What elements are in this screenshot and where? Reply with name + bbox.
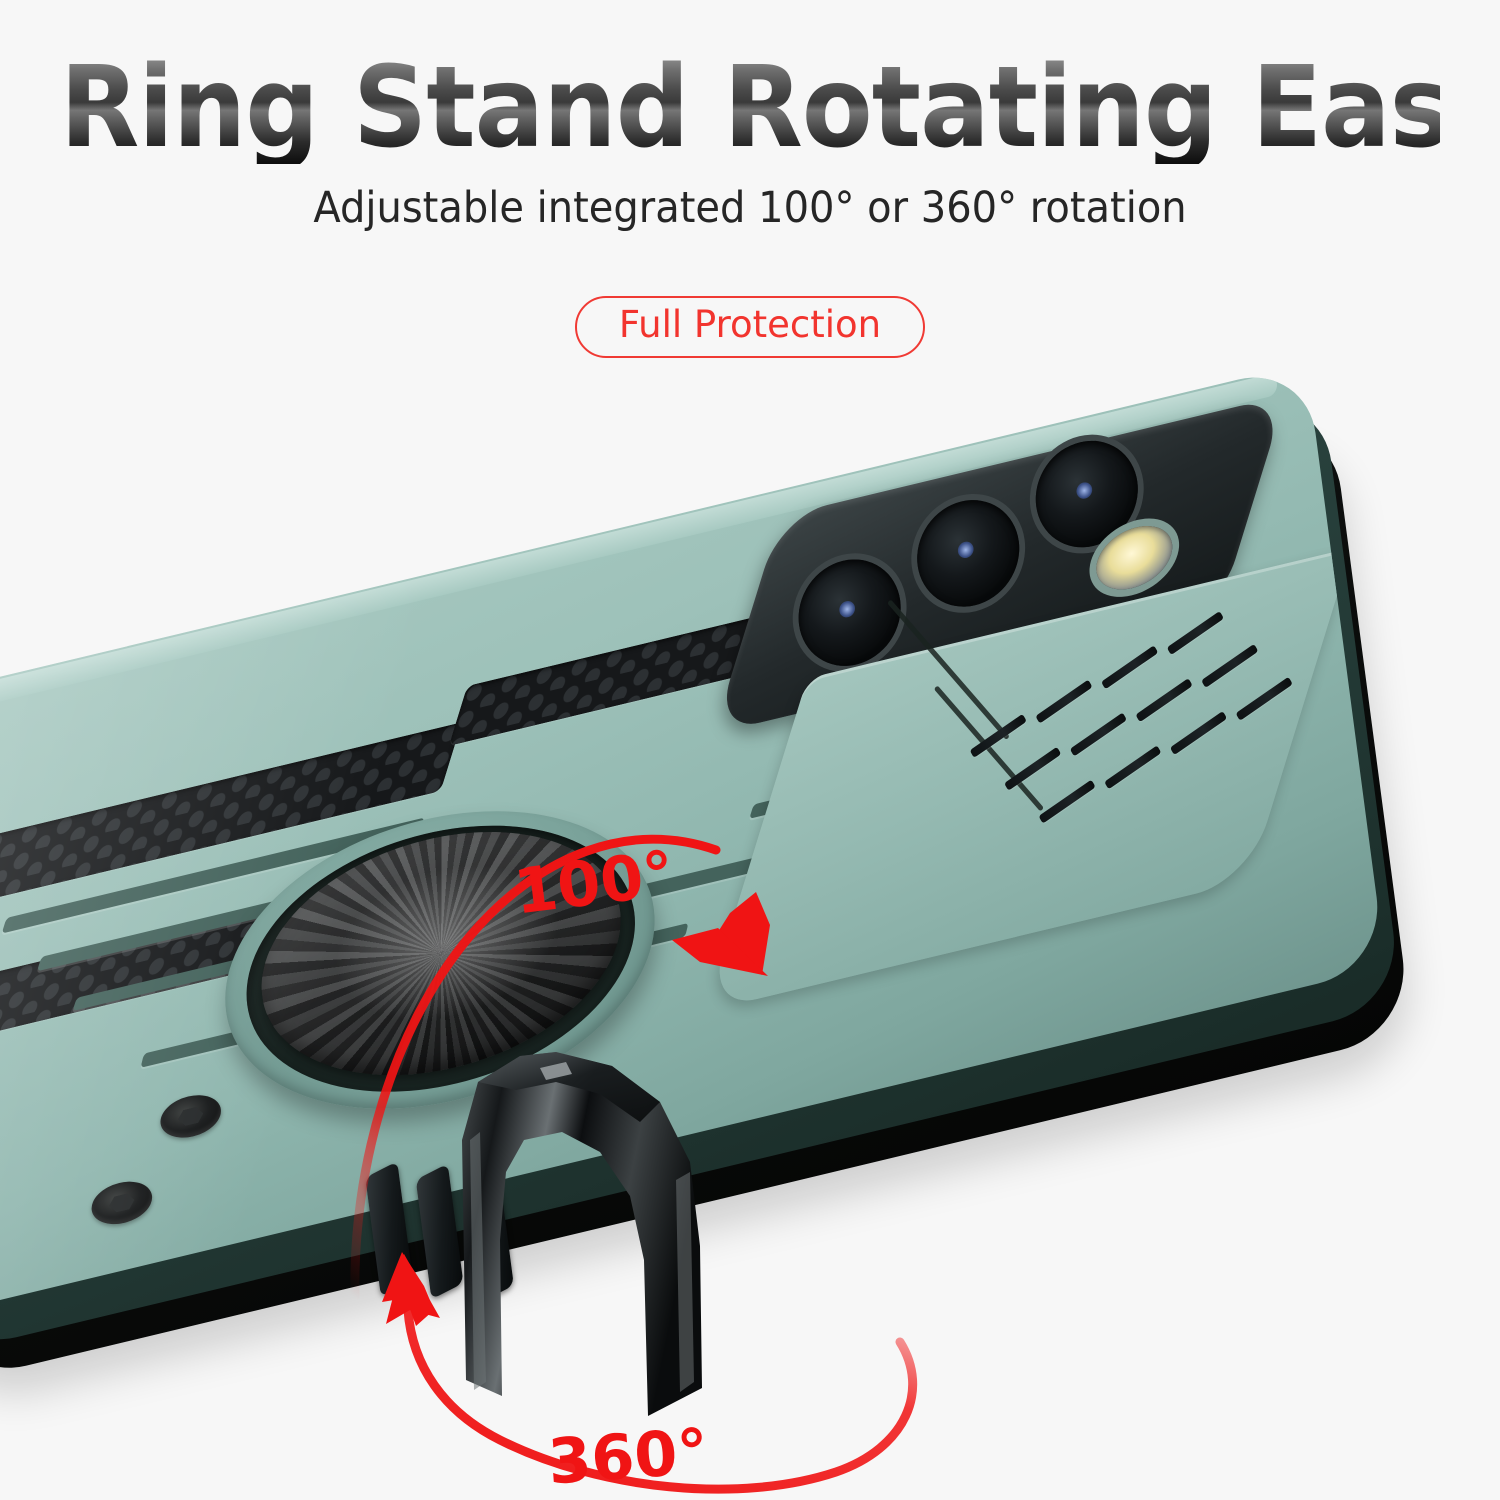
camera-lens-icon — [792, 549, 907, 677]
slider-grip-dash — [970, 714, 1027, 758]
led-flash-icon — [1094, 518, 1174, 597]
slider-seam-line — [887, 599, 1010, 740]
slider-grip-dash — [1038, 780, 1095, 824]
slider-grip-dash — [1101, 645, 1158, 689]
infographic-page: Ring Stand Rotating Easily Ring Stand Ro… — [0, 0, 1500, 1500]
hex-screw-icon — [89, 1176, 155, 1230]
honeycomb-grip-strip — [449, 588, 876, 746]
badge-row: Full Protection — [0, 296, 1500, 358]
armor-panel-line — [37, 880, 362, 971]
page-subtitle: Adjustable integrated 100° or 360° rotat… — [53, 183, 1448, 233]
angle-label-360: 360° — [546, 1414, 711, 1498]
phone-case-render — [0, 349, 1472, 1500]
armor-panel-line — [2, 818, 425, 934]
armor-panel-line — [73, 939, 320, 1011]
page-title: Ring Stand Rotating Easily — [60, 52, 1440, 164]
hex-screw-icon — [916, 825, 982, 879]
full-protection-badge: Full Protection — [575, 296, 925, 358]
slider-grip-dash — [1167, 611, 1224, 655]
slider-grip-dash — [1201, 644, 1258, 688]
camera-slider-cover — [704, 548, 1351, 1012]
slider-seam-line — [934, 685, 1044, 811]
honeycomb-grip-strip — [825, 708, 1232, 861]
hex-screw-icon — [158, 1089, 224, 1143]
slider-grip-dash — [1070, 712, 1127, 756]
slider-grip-dash — [1004, 747, 1061, 791]
armor-panel-line — [141, 923, 689, 1068]
camera-lens-icon — [1029, 430, 1144, 558]
honeycomb-grip-strip — [878, 575, 1306, 737]
camera-module — [713, 395, 1286, 734]
ring-seat-boss — [208, 769, 673, 1151]
header-block: Ring Stand Rotating Easily Ring Stand Ro… — [0, 0, 1500, 380]
armor-panel-line — [749, 734, 1045, 818]
slider-grip-dash — [1170, 711, 1227, 755]
camera-lens-icon — [911, 489, 1026, 617]
ring-seat-groove — [231, 788, 651, 1130]
product-stage: 100° 360° — [0, 380, 1500, 1500]
slider-grip-dash — [1104, 745, 1161, 789]
honeycomb-grip-strip — [0, 871, 418, 1057]
slider-grip-dash — [1035, 680, 1092, 724]
slider-grip-dash — [1135, 678, 1192, 722]
slider-grip-dash — [1236, 677, 1293, 721]
shell-top-highlight — [0, 373, 1278, 726]
honeycomb-grip-strip — [0, 722, 462, 922]
brushed-metal-disc — [247, 797, 635, 1110]
